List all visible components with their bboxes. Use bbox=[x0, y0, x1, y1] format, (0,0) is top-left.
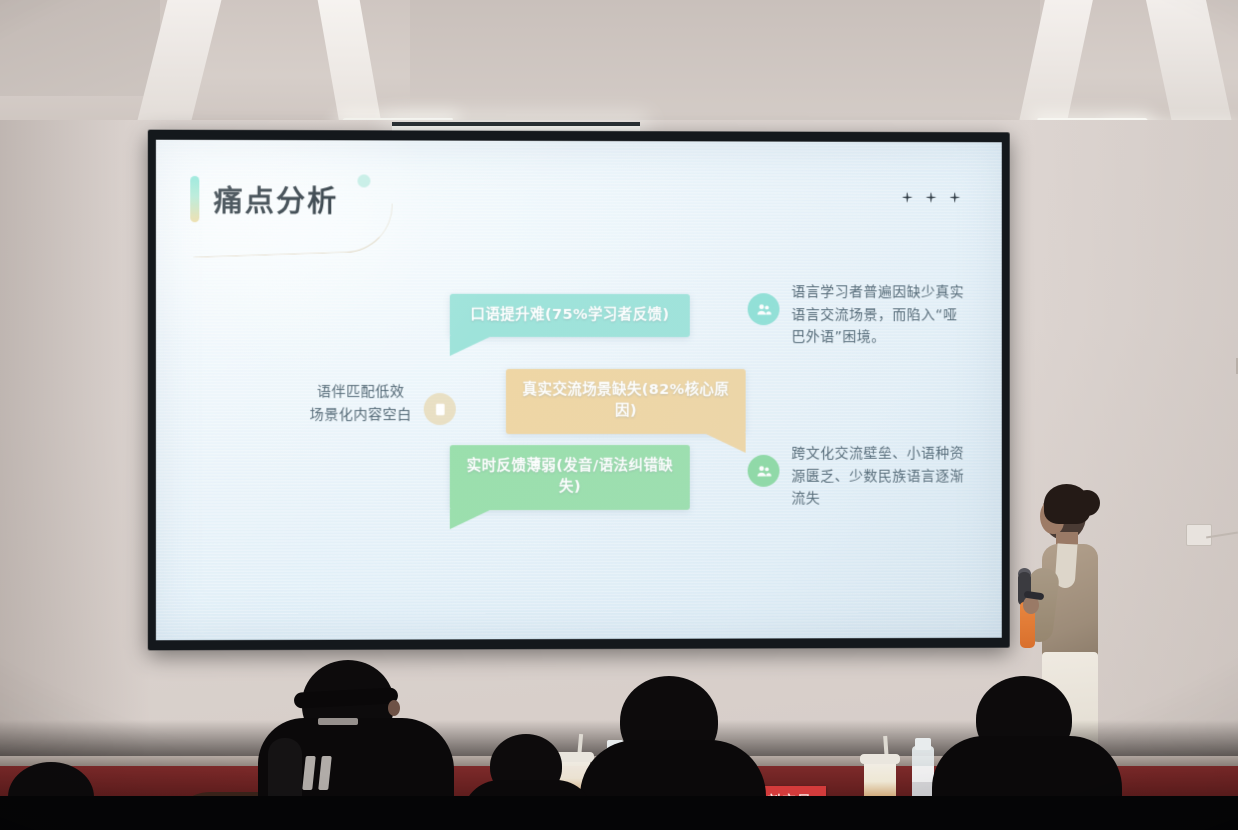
drink-cup-lid bbox=[860, 754, 900, 764]
people-icon bbox=[748, 293, 780, 325]
side-note-left: 语伴匹配低效 场景化内容空白 bbox=[265, 381, 456, 427]
document-icon bbox=[424, 393, 456, 425]
projected-slide: 痛点分析 口语提升难(75%学习者反馈) 真实交流场景缺失(82%核心原因) 实… bbox=[156, 140, 1002, 641]
projection-screen-bezel: 痛点分析 口语提升难(75%学习者反馈) 真实交流场景缺失(82%核心原因) 实… bbox=[148, 130, 1010, 651]
audience-ear bbox=[388, 700, 400, 716]
backpack-tag bbox=[318, 718, 358, 725]
bottle-cap bbox=[915, 738, 931, 750]
lecture-room-photo: 痛点分析 口语提升难(75%学习者反馈) 真实交流场景缺失(82%核心原因) 实… bbox=[0, 0, 1238, 830]
side-note-line-2: 场景化内容空白 bbox=[310, 404, 412, 427]
side-note-right-top: 语言学习者普遍因缺少真实语言交流场景，而陷入“哑巴外语”困境。 bbox=[748, 281, 967, 349]
callout-tail bbox=[450, 336, 492, 356]
callout-text: 真实交流场景缺失(82%核心原因) bbox=[523, 382, 730, 419]
title-accent-bar bbox=[190, 176, 199, 222]
ceiling-slab-center bbox=[410, 0, 1040, 128]
ceiling-slab-left bbox=[0, 0, 160, 96]
sparkle-icon bbox=[926, 192, 937, 203]
callout-text: 口语提升难(75%学习者反馈) bbox=[470, 307, 669, 323]
side-note-line-1: 语伴匹配低效 bbox=[310, 381, 412, 404]
side-note-right-bottom: 跨文化交流壁垒、小语种资源匮乏、少数民族语言逐渐流失 bbox=[748, 443, 967, 511]
presenter-hair-bun bbox=[1074, 490, 1100, 516]
sparkle-icon bbox=[949, 192, 960, 203]
people-icon bbox=[748, 455, 780, 487]
wall-shadow-left bbox=[0, 120, 150, 760]
callout-pain-point-2: 真实交流场景缺失(82%核心原因) bbox=[506, 369, 746, 434]
callout-pain-point-1: 口语提升难(75%学习者反馈) bbox=[450, 294, 690, 338]
side-note-text: 语言学习者普遍因缺少真实语言交流场景，而陷入“哑巴外语”困境。 bbox=[791, 281, 966, 349]
callout-pain-point-3: 实时反馈薄弱(发音/语法纠错缺失) bbox=[450, 445, 690, 510]
page-title: 痛点分析 bbox=[213, 178, 338, 220]
bottle-label bbox=[912, 766, 934, 782]
photo-bottom-letterbox bbox=[0, 796, 1238, 830]
callout-tail bbox=[450, 509, 492, 529]
side-note-text: 跨文化交流壁垒、小语种资源匮乏、少数民族语言逐渐流失 bbox=[791, 443, 966, 511]
title-dot-decoration bbox=[357, 174, 370, 187]
callout-text: 实时反馈薄弱(发音/语法纠错缺失) bbox=[467, 458, 673, 496]
sparkle-icon bbox=[902, 192, 913, 203]
side-note-left-lines: 语伴匹配低效 场景化内容空白 bbox=[310, 381, 412, 426]
callout-tail bbox=[704, 433, 746, 453]
sparkle-decoration-group bbox=[902, 192, 960, 203]
wall-outlet bbox=[1186, 524, 1212, 546]
slide-title-group: 痛点分析 bbox=[190, 176, 338, 223]
